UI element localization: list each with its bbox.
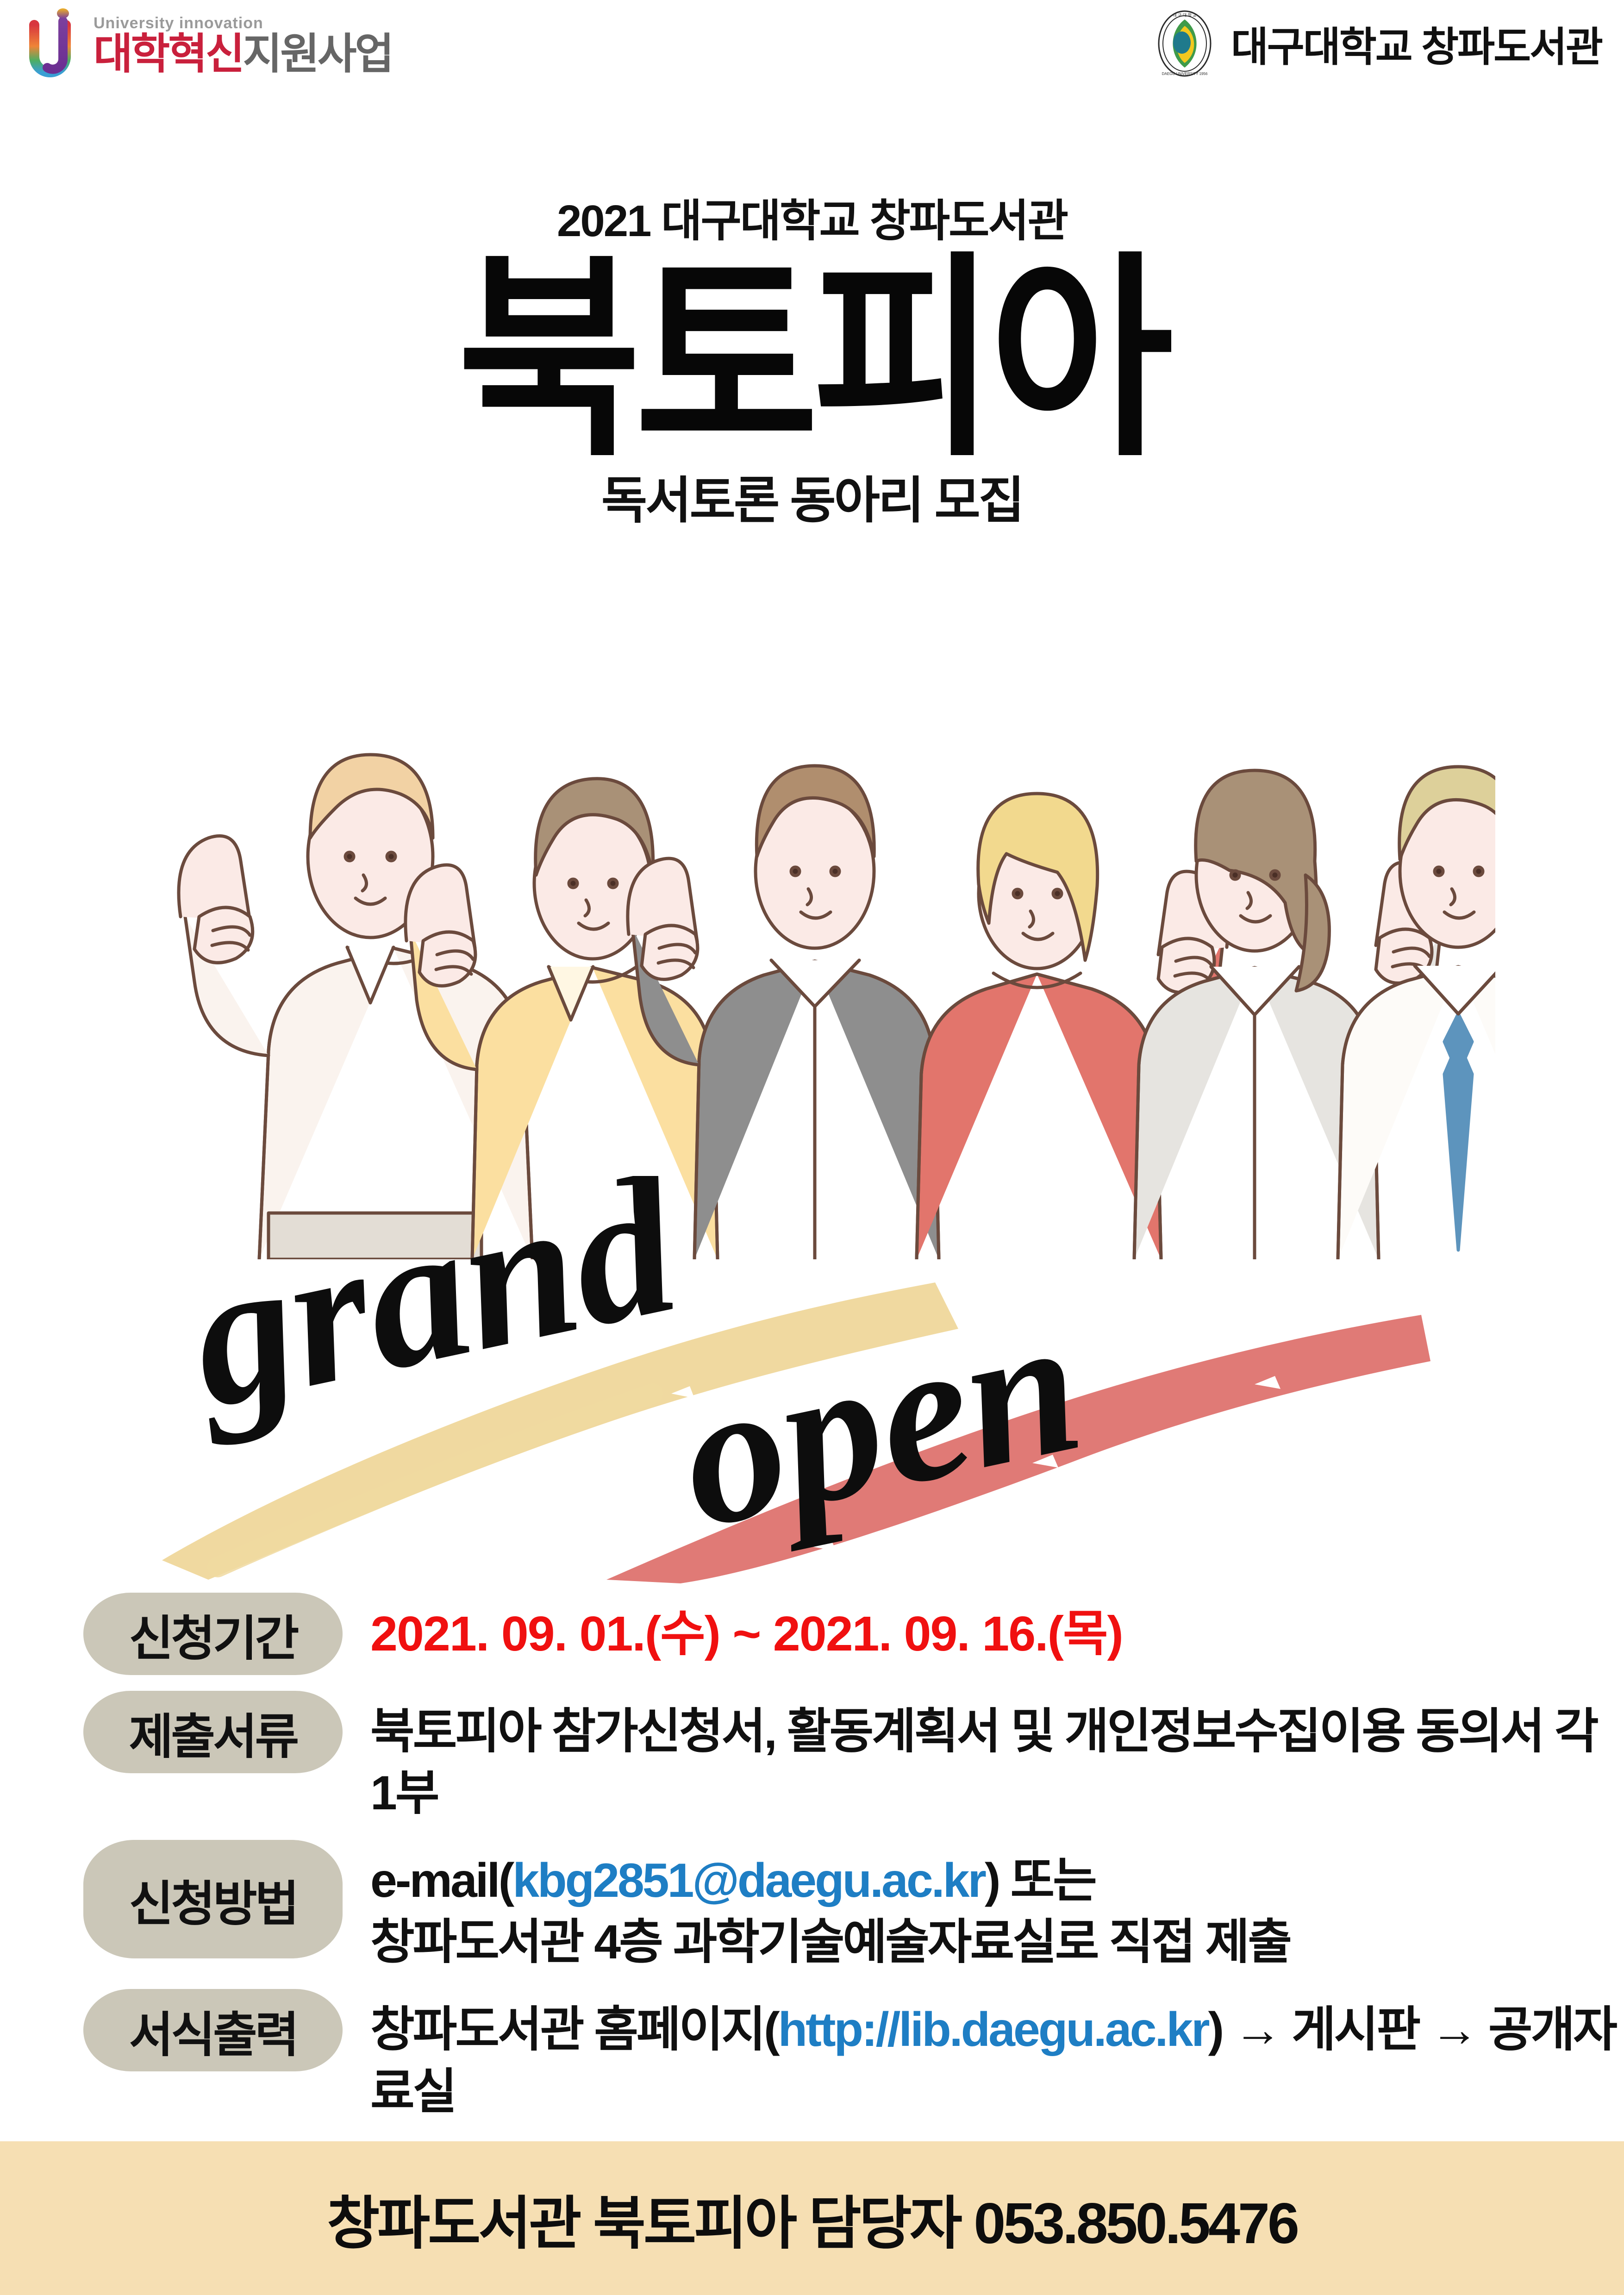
info-section: 신청기간 2021. 09. 01.(수) ~ 2021. 09. 16.(목)… <box>0 1593 1624 2203</box>
how-to-apply-line-1: e-mail(kbg2851@daegu.ac.kr) 또는 <box>370 1850 1290 1912</box>
how-to-apply-line-2: 창파도서관 4층 과학기술예술자료실로 직접 제출 <box>370 1912 1290 1973</box>
email-prefix: e-mail( <box>370 1854 512 1907</box>
university-innovation-logo: University innovation 대학혁신지원사업 <box>28 8 392 82</box>
footer-contact-text: 창파도서관 북토피아 담당자 053.850.5476 <box>327 2176 1297 2260</box>
footer-contact-bar: 창파도서관 북토피아 담당자 053.850.5476 <box>0 2141 1624 2295</box>
info-value-documents: 북토피아 참가신청서, 활동계획서 및 개인정보수집이용 동의서 각 1부 <box>370 1691 1624 1824</box>
info-value-form-download: 창파도서관 홈페이지(http://lib.daegu.ac.kr) → 게시판… <box>370 1989 1624 2122</box>
library-logo: 대 구 대 학 교 DAEGU UNIVERSITY 1956 대구대학교 창파… <box>1150 9 1602 78</box>
info-label-application-period: 신청기간 <box>83 1593 343 1675</box>
info-row-form-download: 서식출력 창파도서관 홈페이지(http://lib.daegu.ac.kr) … <box>0 1989 1624 2122</box>
email-suffix: ) 또는 <box>985 1854 1095 1907</box>
info-label-form-download: 서식출력 <box>83 1989 343 2071</box>
info-value-how-to-apply: e-mail(kbg2851@daegu.ac.kr) 또는 창파도서관 4층 … <box>370 1840 1290 1973</box>
info-label-documents: 제출서류 <box>83 1691 343 1773</box>
university-innovation-kor-gray: 지원사업 <box>243 31 393 78</box>
university-innovation-eng-label: University innovation <box>94 15 392 31</box>
svg-text:DAEGU UNIVERSITY 1956: DAEGU UNIVERSITY 1956 <box>1162 72 1208 76</box>
info-row-application-period: 신청기간 2021. 09. 01.(수) ~ 2021. 09. 16.(목) <box>0 1593 1624 1675</box>
poster-subtitle: 독서토론 동아리 모집 <box>0 475 1624 525</box>
university-innovation-kor-red: 대학혁신 <box>94 31 243 78</box>
svg-text:대 구 대 학 교: 대 구 대 학 교 <box>1173 13 1196 18</box>
poster-title-block: 2021 대구대학교 창파도서관 북토피아 독서토론 동아리 모집 <box>0 199 1624 525</box>
email-link[interactable]: kbg2851@daegu.ac.kr <box>512 1854 985 1907</box>
homepage-link[interactable]: http://lib.daegu.ac.kr <box>778 2003 1208 2057</box>
homepage-prefix: 창파도서관 홈페이지( <box>370 2003 778 2057</box>
page-title: 북토피아 <box>65 256 1559 463</box>
uj-logo-icon <box>28 8 83 82</box>
open-word: open <box>662 1272 1098 1570</box>
daegu-university-emblem-icon: 대 구 대 학 교 DAEGU UNIVERSITY 1956 <box>1150 9 1219 78</box>
info-row-how-to-apply: 신청방법 e-mail(kbg2851@daegu.ac.kr) 또는 창파도서… <box>0 1840 1624 1973</box>
grand-open-artwork: grand open <box>153 1176 1505 1583</box>
poster-eyebrow: 2021 대구대학교 창파도서관 <box>0 199 1624 244</box>
info-value-application-period: 2021. 09. 01.(수) ~ 2021. 09. 16.(목) <box>370 1593 1123 1666</box>
people-thumbs-up-illustration <box>153 597 1495 1259</box>
info-label-how-to-apply: 신청방법 <box>83 1840 343 1958</box>
info-row-documents: 제출서류 북토피아 참가신청서, 활동계획서 및 개인정보수집이용 동의서 각 … <box>0 1691 1624 1824</box>
library-name-label: 대구대학교 창파도서관 <box>1231 14 1602 73</box>
